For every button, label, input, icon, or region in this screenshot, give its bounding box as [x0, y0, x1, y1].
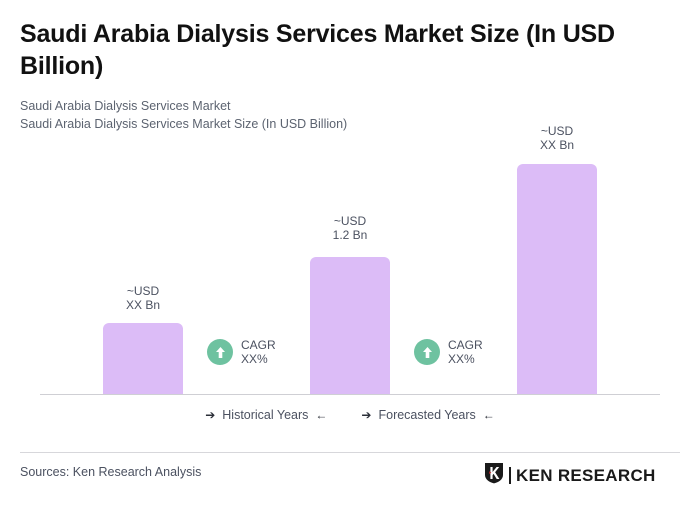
bar-label-2-value: 1.2 Bn [295, 228, 405, 242]
brand-wordmark: KEN RESEARCH [516, 466, 656, 486]
cagr-badge-1: CAGR XX% [207, 338, 276, 366]
bar-historical[interactable] [103, 323, 183, 394]
shield-k-icon [484, 462, 504, 489]
bar-base[interactable] [310, 257, 390, 394]
sources-text: Sources: Ken Research Analysis [20, 465, 201, 479]
bar-label-2: ~USD 1.2 Bn [295, 214, 405, 242]
cagr-badge-2: CAGR XX% [414, 338, 483, 366]
bar-label-3: ~USD XX Bn [502, 124, 612, 152]
arrow-right-icon: ➔ [205, 409, 215, 421]
cagr-badge-1-line2: XX% [241, 352, 276, 366]
cagr-badge-2-line2: XX% [448, 352, 483, 366]
axis-baseline [40, 394, 660, 395]
legend-item-historical[interactable]: ➔ Historical Years ← [205, 408, 327, 422]
cagr-badge-1-line1: CAGR [241, 338, 276, 352]
bar-label-3-value: XX Bn [502, 138, 612, 152]
footer-divider [20, 452, 680, 453]
bar-label-1-unit: ~USD [88, 284, 198, 298]
cagr-badge-2-text: CAGR XX% [448, 338, 483, 366]
period-legend: ➔ Historical Years ← ➔ Forecasted Years … [40, 408, 660, 422]
bar-label-1: ~USD XX Bn [88, 284, 198, 312]
legend-label-historical: Historical Years [222, 408, 308, 422]
arrow-up-icon [414, 339, 440, 365]
bar-label-2-unit: ~USD [295, 214, 405, 228]
brand-divider-bar [509, 467, 511, 484]
cagr-badge-2-line1: CAGR [448, 338, 483, 352]
cagr-badge-1-text: CAGR XX% [241, 338, 276, 366]
arrow-left-icon: ← [483, 409, 495, 421]
brand-logo: KEN RESEARCH [484, 462, 656, 489]
arrow-left-icon: ← [315, 409, 327, 421]
bar-label-3-unit: ~USD [502, 124, 612, 138]
arrow-right-icon: ➔ [361, 409, 371, 421]
legend-label-forecasted: Forecasted Years [378, 408, 475, 422]
bar-label-1-value: XX Bn [88, 298, 198, 312]
legend-item-forecasted[interactable]: ➔ Forecasted Years ← [361, 408, 494, 422]
chart-page: Saudi Arabia Dialysis Services Market Si… [0, 0, 700, 520]
bar-forecast[interactable] [517, 164, 597, 394]
arrow-up-icon [207, 339, 233, 365]
plot-area: ~USD XX Bn CAGR XX% ~USD 1.2 Bn [0, 0, 700, 400]
